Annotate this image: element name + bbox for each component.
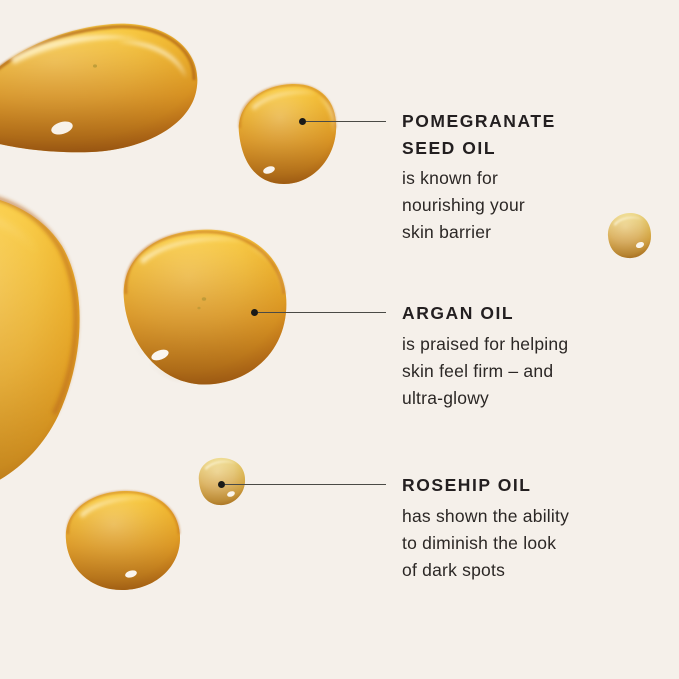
droplet-pomegranate [239, 84, 336, 184]
callout-title-pomegranate-seed-oil: POMEGRANATE SEED OIL [402, 108, 664, 161]
callout-body-pomegranate-seed-oil: is known for nourishing your skin barrie… [402, 165, 664, 247]
callout-pomegranate-seed-oil: POMEGRANATE SEED OIL is known for nouris… [402, 108, 664, 247]
callout-body-argan-oil: is praised for helping skin feel firm – … [402, 331, 664, 413]
callout-body-rosehip-oil: has shown the ability to diminish the lo… [402, 503, 664, 585]
leader-line-pomegranate [306, 121, 386, 122]
droplet-argan [124, 230, 287, 385]
leader-dot-argan [251, 309, 258, 316]
leader-line-rosehip [225, 484, 386, 485]
callout-title-rosehip-oil: ROSEHIP OIL [402, 472, 664, 499]
droplet-large-oval-left-edge [0, 192, 80, 501]
leader-dot-pomegranate [299, 118, 306, 125]
callout-title-argan-oil: ARGAN OIL [402, 300, 664, 327]
infographic-canvas: POMEGRANATE SEED OIL is known for nouris… [0, 0, 679, 679]
droplet-teardrop-top-left [0, 24, 197, 153]
droplet-bottom-left [66, 491, 180, 590]
callout-rosehip-oil: ROSEHIP OIL has shown the ability to dim… [402, 472, 664, 584]
leader-dot-rosehip [218, 481, 225, 488]
leader-line-argan [258, 312, 386, 313]
callout-argan-oil: ARGAN OIL is praised for helping skin fe… [402, 300, 664, 412]
